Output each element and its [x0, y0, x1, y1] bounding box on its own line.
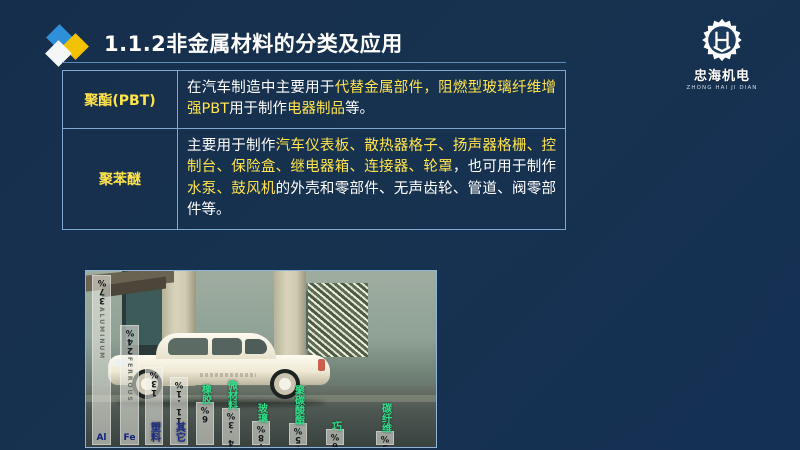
company-pinyin: ZHONG HAI JI DIAN	[666, 85, 778, 91]
slide-canvas: 1.1.2非金属材料的分类及应用 忠海机电 ZHONG HAI JI DIAN	[0, 0, 800, 450]
bar-cn-label: 其它	[172, 422, 187, 442]
bar-micro-material: 4.3% 微材料	[222, 408, 240, 445]
title-divider	[62, 62, 566, 63]
bar-vinyl: 0.6% 巧	[326, 429, 344, 445]
material-name: 聚苯醚	[99, 172, 141, 188]
bar-carbon-fiber: 0.3% 碳纤维	[376, 431, 394, 445]
material-name-cell: 聚酯(PBT)	[63, 71, 178, 129]
desc-segment: 用于制作	[229, 101, 287, 117]
car-photo: 37% ALUMINUM Al 24% FERROUS Fe 13% 塑料 11…	[86, 271, 436, 447]
gear-icon	[666, 16, 778, 64]
bar-value-label: 37%	[97, 278, 107, 305]
desc-segment: 在汽车制造中主要用于	[187, 80, 335, 96]
bar-cn-label: 巧	[328, 421, 343, 431]
desc-segment: 主要用于制作	[187, 138, 276, 154]
bar-symbol: Fe	[124, 433, 136, 443]
material-description: 在汽车制造中主要用于代替金属部件，阻燃型玻璃纤维增强PBT用于制作电器制品等。	[187, 78, 556, 121]
bar-rubber: 6% 橡胶	[196, 402, 214, 445]
bar-glass: 1.8% 玻璃	[252, 421, 270, 445]
bar-cn-label: 塑料	[147, 422, 162, 442]
bar-other: 11.1% 其它	[170, 377, 188, 445]
bar-polycarbonate: 1.5% 聚碳酸酯	[289, 423, 307, 445]
material-desc-cell: 在汽车制造中主要用于代替金属部件，阻燃型玻璃纤维增强PBT用于制作电器制品等。	[178, 71, 566, 129]
bar-cn-label: 聚碳酸酯	[291, 385, 306, 425]
material-name: 聚酯(PBT)	[84, 93, 155, 109]
material-description: 主要用于制作汽车仪表板、散热器格子、扬声器格栅、控制台、保险盒、继电器箱、连接器…	[187, 136, 556, 222]
material-table: 聚酯(PBT) 在汽车制造中主要用于代替金属部件，阻燃型玻璃纤维增强PBT用于制…	[62, 70, 566, 230]
bar-cn-label: 橡胶	[198, 384, 213, 404]
bar-value-label: 4.3%	[226, 411, 236, 447]
bar-value-label: 24%	[125, 328, 135, 355]
bar-cn-label: 碳纤维	[378, 403, 393, 433]
bar-value-label: 6%	[200, 405, 210, 423]
desc-segment-highlight: 水泵、鼓风机	[187, 181, 276, 197]
desc-segment-highlight: 电器制品	[287, 101, 345, 117]
page-title: 1.1.2非金属材料的分类及应用	[104, 28, 403, 58]
bar-fe: 24% FERROUS Fe	[120, 325, 139, 445]
table-row: 聚苯醚 主要用于制作汽车仪表板、散热器格子、扬声器格栅、控制台、保险盒、继电器箱…	[63, 128, 566, 229]
bar-value-label: 13%	[149, 370, 159, 397]
bar-en-label: ALUMINUM	[98, 307, 105, 360]
desc-segment: 等。	[345, 101, 374, 117]
desc-segment: ，也可用于制作	[453, 159, 556, 175]
car-material-chart-image: 37% ALUMINUM Al 24% FERROUS Fe 13% 塑料 11…	[85, 270, 437, 448]
bar-value-label: 0.3%	[380, 434, 390, 448]
bar-value-label: 1.8%	[256, 424, 266, 448]
bar-symbol: Al	[96, 433, 106, 443]
company-logo: 忠海机电 ZHONG HAI JI DIAN	[666, 16, 778, 94]
company-name: 忠海机电	[666, 65, 778, 84]
bar-cn-label: 玻璃	[254, 403, 269, 423]
bar-value-label: 1.5%	[293, 426, 303, 448]
bar-al: 37% ALUMINUM Al	[92, 275, 111, 445]
bar-value-label: 11.1%	[174, 380, 184, 425]
diamond-logo-icon	[48, 28, 100, 64]
material-desc-cell: 主要用于制作汽车仪表板、散热器格子、扬声器格栅、控制台、保险盒、继电器箱、连接器…	[178, 128, 566, 229]
material-name-cell: 聚苯醚	[63, 128, 178, 229]
bar-cn-label: 微材料	[224, 380, 239, 410]
bar-en-label: FERROUS	[126, 357, 133, 403]
bar-plastic: 13% 塑料	[145, 367, 163, 445]
material-bar-chart: 37% ALUMINUM Al 24% FERROUS Fe 13% 塑料 11…	[86, 271, 436, 447]
bar-value-label: 0.6%	[330, 432, 340, 448]
table-row: 聚酯(PBT) 在汽车制造中主要用于代替金属部件，阻燃型玻璃纤维增强PBT用于制…	[63, 71, 566, 129]
